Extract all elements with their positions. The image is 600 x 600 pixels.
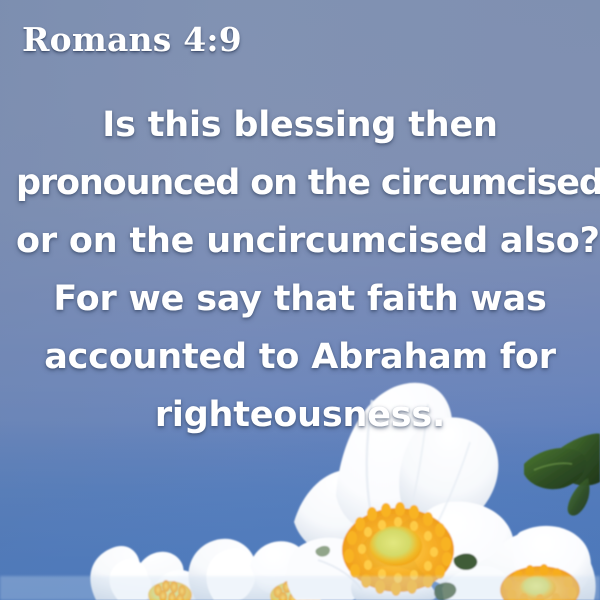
verse-reference: Romans 4:9 [22,20,242,60]
verse-text-block: Is this blessing then pronounced on the … [16,96,584,444]
verse-line-2: pronounced on the circumcised, [16,154,584,212]
verse-line-1: Is this blessing then [16,96,584,154]
verse-line-6: righteousness. [16,386,584,444]
verse-line-4: For we say that faith was [16,270,584,328]
verse-line-5: accounted to Abraham for [16,328,584,386]
verse-image-canvas: Romans 4:9 Is this blessing then pronoun… [0,0,600,600]
verse-line-3: or on the uncircumcised also? [16,212,584,270]
sky-deep-band [0,420,600,600]
